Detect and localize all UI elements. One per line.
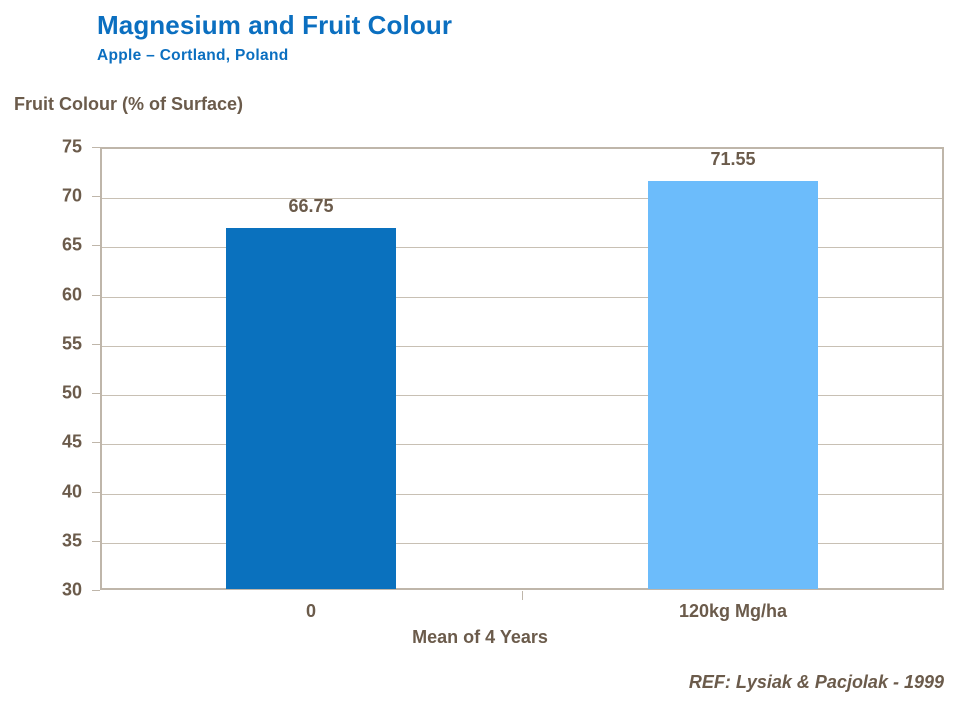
y-axis-tick: [92, 245, 100, 246]
y-axis-tick: [92, 541, 100, 542]
x-axis-title: Mean of 4 Years: [0, 627, 960, 648]
bar: [226, 228, 396, 589]
y-axis-tick: [92, 196, 100, 197]
y-axis-label: 55: [36, 333, 82, 354]
y-axis-tick: [92, 492, 100, 493]
bar-value-label: 71.55: [673, 149, 793, 170]
x-axis-tick: [522, 591, 523, 600]
y-axis-label: 30: [36, 580, 82, 601]
y-axis-label: 35: [36, 530, 82, 551]
y-axis-label: 45: [36, 432, 82, 453]
y-axis-labels: 75706560555045403530: [36, 0, 82, 720]
y-axis-label: 40: [36, 481, 82, 502]
x-axis-label: 0: [201, 601, 421, 622]
y-axis-tick: [92, 393, 100, 394]
y-axis-tick: [92, 344, 100, 345]
bar-value-label: 66.75: [251, 196, 371, 217]
y-axis-tick: [92, 295, 100, 296]
y-axis-label: 65: [36, 235, 82, 256]
y-axis-label: 75: [36, 137, 82, 158]
y-axis-tick: [92, 442, 100, 443]
x-axis-label: 120kg Mg/ha: [623, 601, 843, 622]
y-axis-label: 60: [36, 284, 82, 305]
y-axis-label: 70: [36, 186, 82, 207]
bar: [648, 181, 818, 589]
chart-subtitle: Apple – Cortland, Poland: [97, 47, 289, 65]
reference-note: REF: Lysiak & Pacjolak - 1999: [689, 672, 944, 693]
y-axis-label: 50: [36, 383, 82, 404]
chart-title: Magnesium and Fruit Colour: [97, 10, 452, 41]
y-axis-tick: [92, 590, 100, 591]
y-axis-tick: [92, 147, 100, 148]
